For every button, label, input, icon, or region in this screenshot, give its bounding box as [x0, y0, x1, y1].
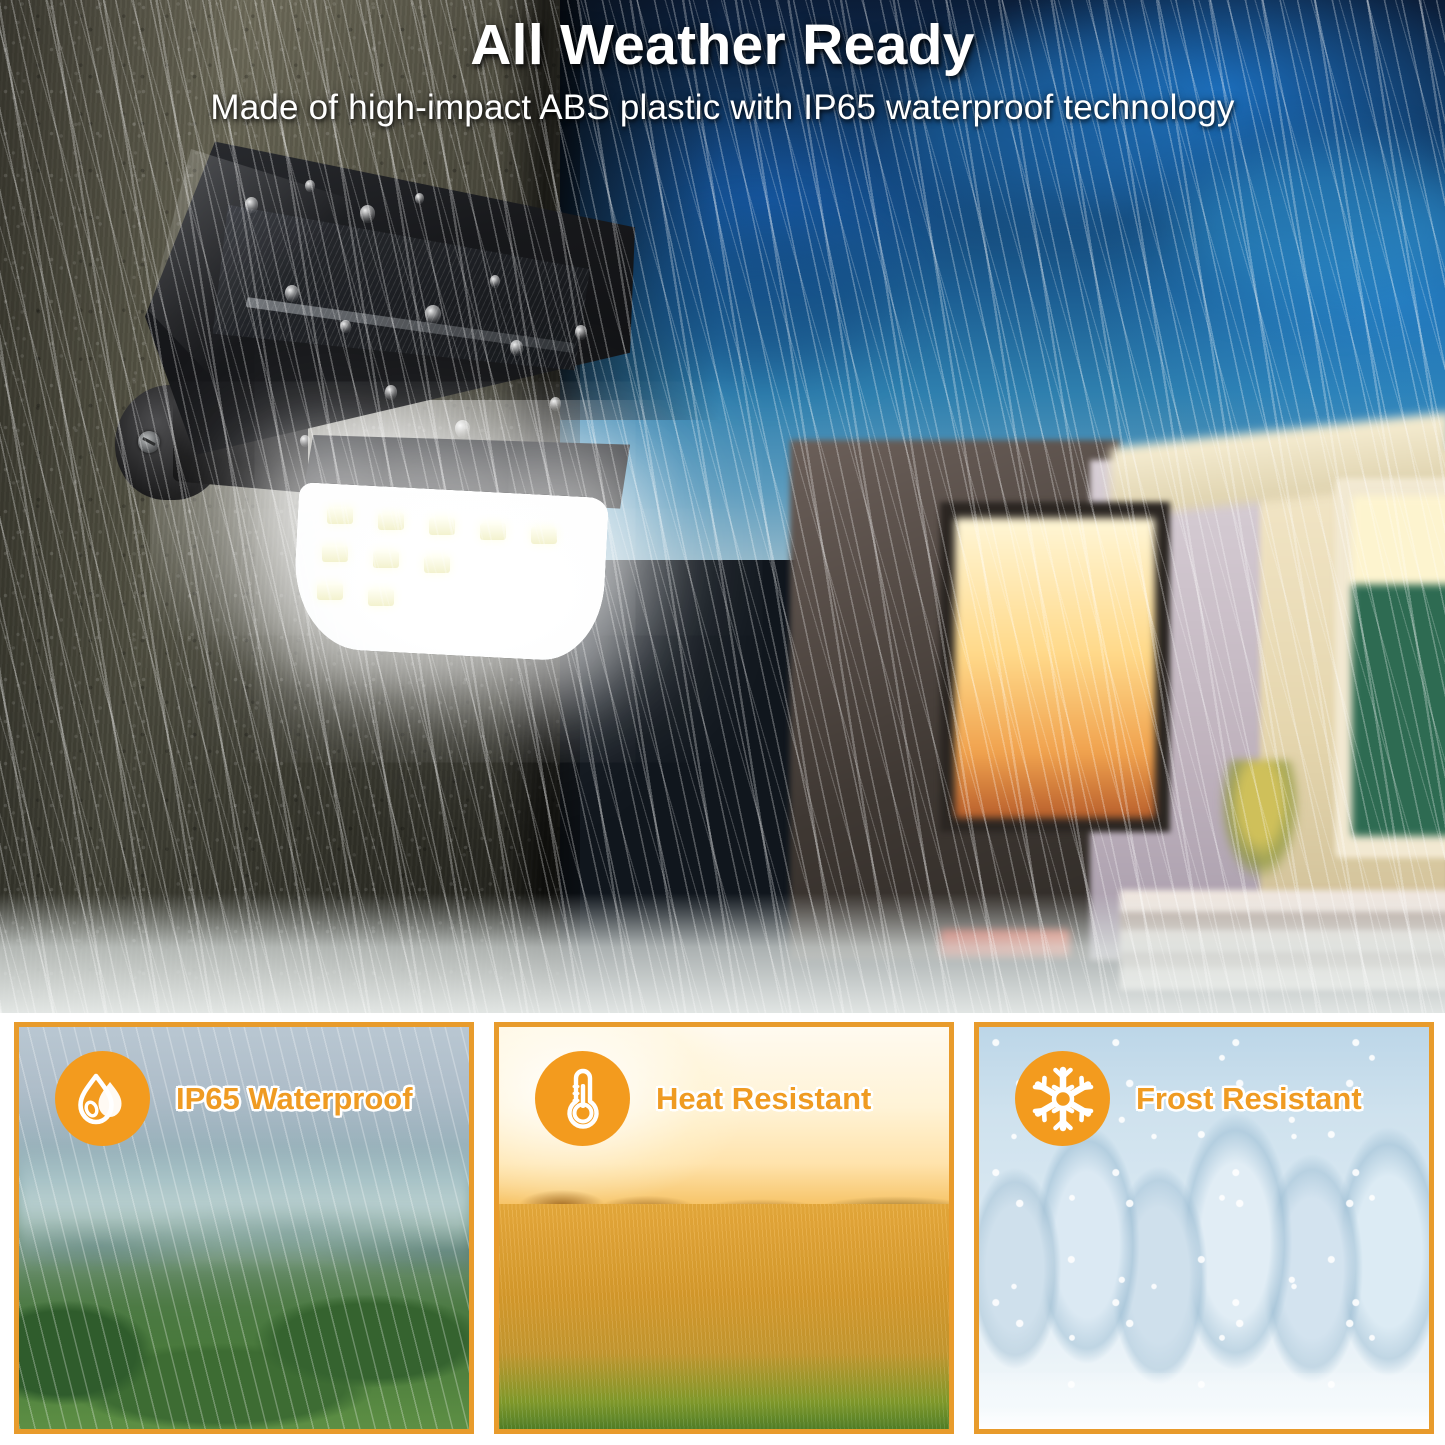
- product-feature-page: All Weather Ready Made of high-impact AB…: [0, 0, 1445, 1445]
- led-chip: [327, 507, 353, 524]
- snowflake-icon: [1015, 1051, 1110, 1146]
- solar-wall-light: [95, 135, 675, 655]
- led-chip: [424, 556, 450, 573]
- led-chip: [317, 583, 343, 600]
- thermometer-icon: [535, 1051, 630, 1146]
- badge-label-heat: Heat Resistant: [656, 1081, 871, 1117]
- water-droplet: [340, 320, 351, 333]
- led-chip: [480, 523, 506, 540]
- led-chip: [429, 518, 455, 535]
- window-lit-left: [955, 518, 1155, 818]
- water-droplet: [550, 397, 561, 411]
- badge-frost: Frost Resistant: [1015, 1051, 1362, 1146]
- led-chip: [531, 527, 557, 544]
- feature-panel-waterproof: IP65 Waterproof: [14, 1022, 474, 1434]
- page-title: All Weather Ready: [0, 12, 1445, 78]
- water-droplet: [385, 385, 397, 400]
- badge-label-waterproof: IP65 Waterproof: [176, 1081, 413, 1117]
- badge-label-frost: Frost Resistant: [1136, 1081, 1362, 1117]
- water-droplet: [415, 193, 424, 204]
- water-droplet: [285, 285, 299, 302]
- cloud-3: [640, 230, 890, 370]
- water-droplet: [490, 275, 500, 288]
- page-subtitle: Made of high-impact ABS plastic with IP6…: [0, 88, 1445, 128]
- wheat-crop: [499, 1204, 949, 1429]
- led-chip: [322, 545, 348, 562]
- water-droplet: [245, 197, 258, 213]
- porch-plant: [1220, 760, 1300, 880]
- feature-panel-heat: Heat Resistant: [494, 1022, 954, 1434]
- badge-waterproof: IP65 Waterproof: [55, 1051, 413, 1146]
- water-droplet: [305, 180, 315, 192]
- badge-heat: Heat Resistant: [535, 1051, 871, 1146]
- mounting-screw: [138, 431, 160, 453]
- hero-image: All Weather Ready Made of high-impact AB…: [0, 0, 1445, 1013]
- water-drop-icon: [55, 1051, 150, 1146]
- water-droplet: [425, 305, 441, 324]
- led-chip: [378, 513, 404, 530]
- led-chip: [373, 551, 399, 568]
- water-droplet: [455, 420, 470, 438]
- water-droplet: [510, 340, 523, 356]
- water-droplet: [360, 205, 375, 223]
- water-droplet: [575, 325, 587, 340]
- feature-panel-frost: Frost Resistant: [974, 1022, 1434, 1434]
- feature-panels: IP65 Waterproof: [0, 1013, 1445, 1445]
- wet-ground: [0, 893, 1445, 1013]
- led-chip: [368, 589, 394, 606]
- water-droplet: [300, 435, 310, 447]
- window-lit-right: [1352, 496, 1445, 836]
